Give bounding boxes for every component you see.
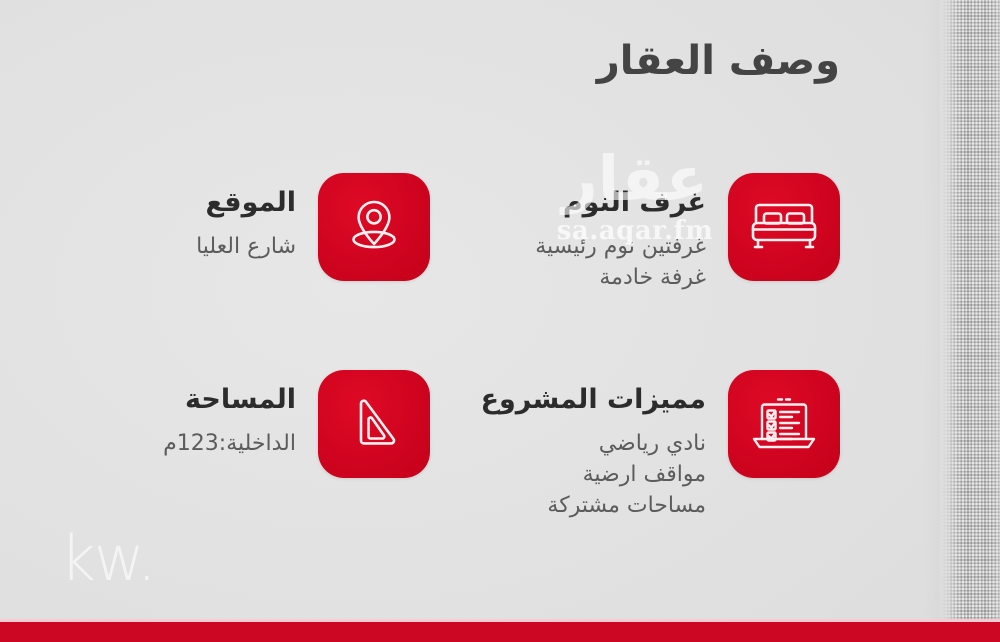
card-area-text: المساحة الداخلية:123م: [91, 370, 296, 459]
card-project-features-text: مميزات المشروع نادي رياضي مواقف ارضية مس…: [481, 370, 706, 522]
card-bedrooms-lines: غرفتين نوم رئيسية غرفة خادمة: [516, 231, 706, 293]
card-project-features-line-2: مواقف ارضية: [481, 459, 706, 490]
kw-brand-logo: kw.: [60, 528, 155, 590]
fabric-texture-strip: [940, 0, 1000, 622]
map-pin-icon: [342, 196, 406, 258]
card-project-features-lines: نادي رياضي مواقف ارضية مساحات مشتركة: [481, 428, 706, 522]
card-area-lines: الداخلية:123م: [91, 428, 296, 459]
card-bedrooms-line-2: غرفة خادمة: [516, 262, 706, 293]
texture-strip-edge: [922, 0, 940, 622]
card-bedrooms-text: غرف النوم غرفتين نوم رئيسية غرفة خادمة: [516, 173, 706, 293]
card-project-features-line-3: مساحات مشتركة: [481, 490, 706, 521]
ruler-triangle-icon-tile: [318, 370, 430, 478]
card-bedrooms: غرف النوم غرفتين نوم رئيسية غرفة خادمة: [516, 173, 840, 293]
card-bedrooms-title: غرف النوم: [516, 187, 706, 219]
page-title: وصف العقار: [597, 38, 840, 84]
bed-icon-tile: [728, 173, 840, 281]
bed-icon: [748, 198, 820, 256]
property-description-slide: وصف العقار غرف النوم غرفتين نوم رئيسية غ…: [0, 0, 1000, 642]
card-area-title: المساحة: [91, 384, 296, 416]
ruler-triangle-icon: [343, 394, 405, 454]
card-location-line-1: شارع العليا: [91, 231, 296, 262]
laptop-checklist-icon: [748, 393, 820, 455]
card-location-lines: شارع العليا: [91, 231, 296, 262]
card-area-line-1: الداخلية:123م: [91, 428, 296, 459]
card-project-features: مميزات المشروع نادي رياضي مواقف ارضية مس…: [481, 370, 840, 522]
card-project-features-line-1: نادي رياضي: [481, 428, 706, 459]
card-project-features-title: مميزات المشروع: [481, 384, 706, 416]
laptop-checklist-icon-tile: [728, 370, 840, 478]
card-area: المساحة الداخلية:123م: [91, 370, 430, 478]
card-location-title: الموقع: [91, 187, 296, 219]
card-location: الموقع شارع العليا: [91, 173, 430, 281]
bottom-red-bar: [0, 622, 1000, 642]
map-pin-icon-tile: [318, 173, 430, 281]
card-location-text: الموقع شارع العليا: [91, 173, 296, 262]
card-bedrooms-line-1: غرفتين نوم رئيسية: [516, 231, 706, 262]
